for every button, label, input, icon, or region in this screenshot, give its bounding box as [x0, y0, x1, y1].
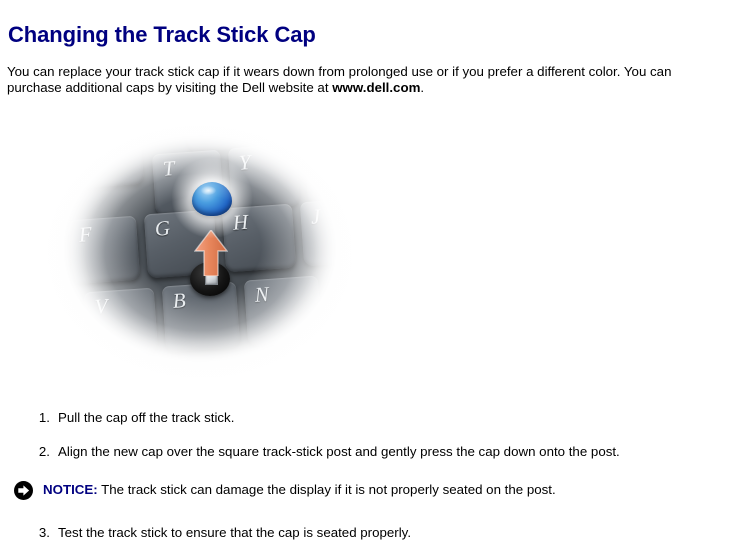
keyboard-key-n: N: [244, 275, 322, 346]
key-label: B: [172, 290, 186, 312]
page-title: Changing the Track Stick Cap: [8, 22, 316, 48]
key-label: F: [78, 224, 92, 246]
keyboard-key-partial: [316, 341, 382, 396]
keyboard-key-f: F: [68, 216, 140, 285]
intro-line-2-suffix: .: [420, 80, 424, 95]
keyboard-key-j: J 1: [300, 198, 374, 267]
notice-arrow-icon: [14, 481, 33, 500]
list-item: 2. Align the new cap over the square tra…: [30, 444, 720, 460]
keyboard-key-partial: [18, 256, 66, 326]
keyboard-key-partial: [74, 126, 144, 188]
track-stick-illustration: 6 T Y U F G H J 1: [18, 108, 382, 396]
notice-label: NOTICE:: [43, 482, 98, 497]
track-stick-cap: [192, 182, 232, 216]
keyboard-key-6: 6: [184, 108, 250, 152]
figure-inner: 6 T Y U F G H J 1: [18, 108, 382, 396]
key-label: U: [314, 146, 331, 168]
keyboard-key-v: V: [84, 288, 158, 359]
key-label: N: [254, 284, 269, 306]
notice-callout: NOTICE: The track stick can damage the d…: [14, 482, 714, 500]
key-label: V: [94, 296, 108, 318]
list-item-number: 1.: [30, 410, 50, 426]
intro-paragraph: You can replace your track stick cap if …: [7, 64, 729, 96]
keyboard-key-partial: [126, 363, 210, 396]
key-label: 6: [194, 108, 206, 121]
list-item: 3. Test the track stick to ensure that t…: [30, 525, 720, 541]
key-label: T: [162, 158, 175, 180]
document-page: Changing the Track Stick Cap You can rep…: [0, 0, 734, 555]
steps-list: 1. Pull the cap off the track stick. 2. …: [30, 410, 720, 460]
key-label: J: [310, 206, 321, 228]
list-item-number: 3.: [30, 525, 50, 541]
list-item-text: Test the track stick to ensure that the …: [58, 525, 411, 540]
list-item-text: Pull the cap off the track stick.: [58, 410, 234, 425]
notice-text: NOTICE: The track stick can damage the d…: [43, 482, 714, 498]
notice-body: The track stick can damage the display i…: [98, 482, 556, 497]
keyboard-key-partial: [18, 336, 84, 396]
intro-line-1: You can replace your track stick cap if …: [7, 64, 671, 79]
key-label: G: [154, 218, 171, 240]
list-item: 1. Pull the cap off the track stick.: [30, 410, 720, 426]
intro-line-2-prefix: purchase additional caps by visiting the…: [7, 80, 332, 95]
list-item-number: 2.: [30, 444, 50, 460]
list-item-text: Align the new cap over the square track-…: [58, 444, 620, 459]
keyboard-key-partial: [356, 256, 382, 327]
dell-website-text: www.dell.com: [332, 80, 420, 95]
key-sublabel: 1: [357, 224, 365, 238]
keyboard-key-u: U: [304, 138, 376, 205]
